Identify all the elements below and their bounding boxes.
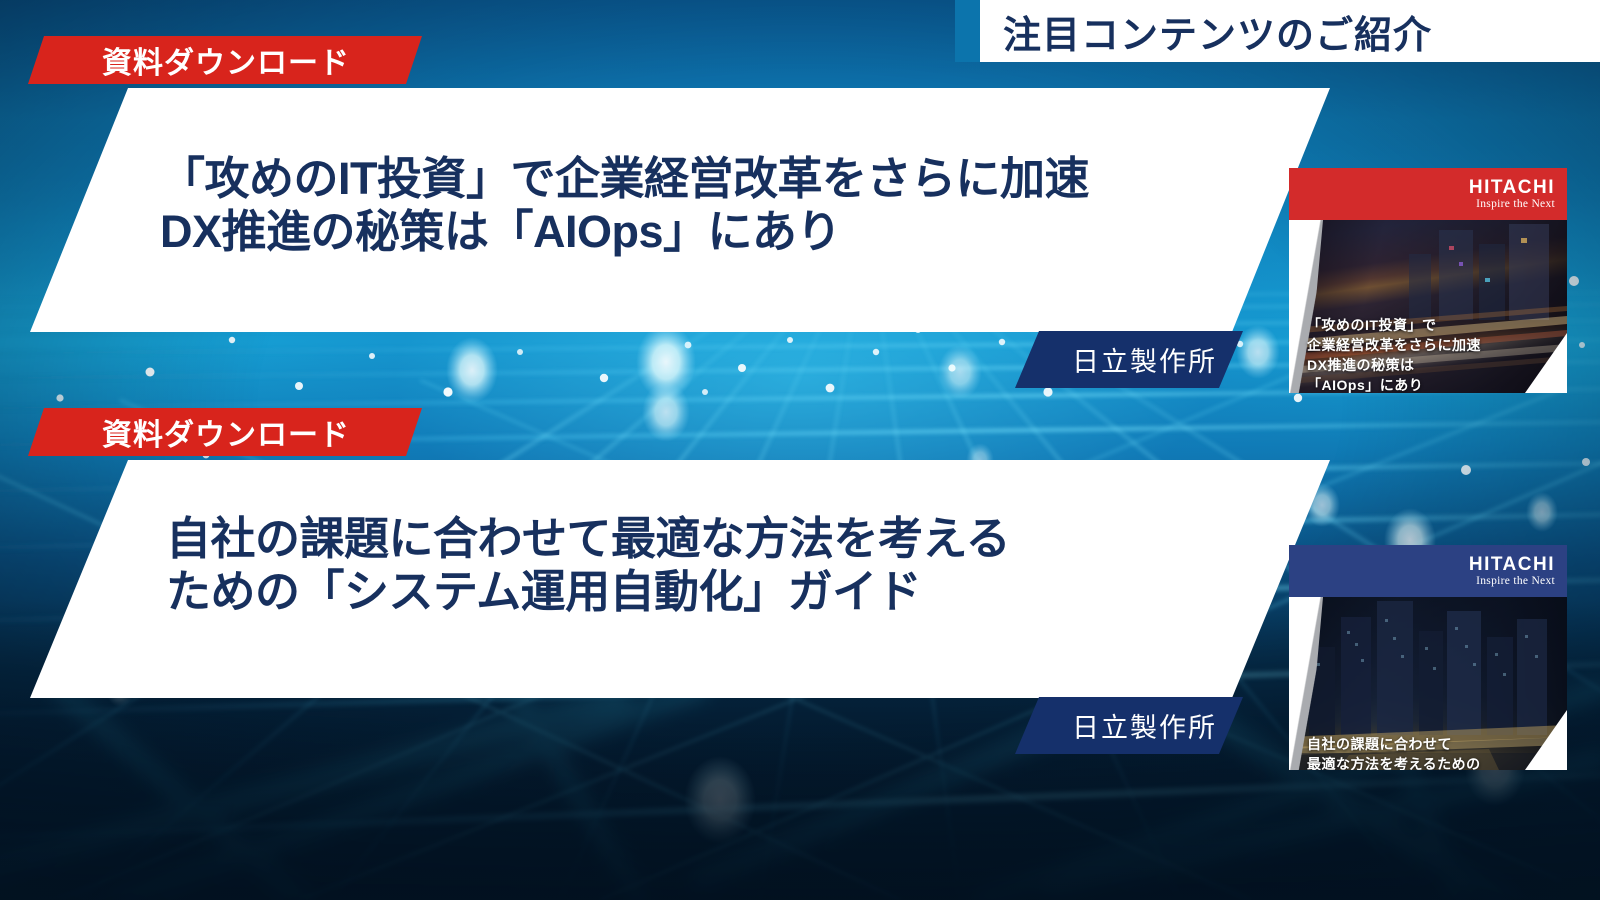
thumbnail-1-line-4: 「AIOps」にあり [1307,376,1481,393]
hitachi-tagline-1: Inspire the Next [1469,199,1555,211]
company-tag-2: 日立製作所 [1015,697,1243,754]
thumbnail-1-line-1: 「攻めのIT投資」で [1307,316,1481,336]
card-1-title-line2: DX推進の秘策は「AIOps」にあり [160,205,1089,258]
slide-canvas: 注目コンテンツのご紹介 「攻めのIT投資」で企業経営改革をさらに加速 DX推進の… [0,0,1600,900]
download-badge-2-label: 資料ダウンロード [102,410,350,454]
company-tag-1-label: 日立製作所 [1072,340,1217,379]
thumbnail-2-text: 自社の課題に合わせて 最適な方法を考えるための 「システム運用自動化」ガイド [1307,735,1510,770]
thumbnail-1-line-2: 企業経営改革をさらに加速 [1307,336,1481,356]
company-tag-1: 日立製作所 [1015,331,1243,388]
hitachi-logo-2: HITACHI Inspire the Next [1469,555,1567,588]
thumbnail-2-line-1: 自社の課題に合わせて [1307,735,1510,755]
hitachi-brand-2: HITACHI [1469,555,1555,574]
download-badge-1-label: 資料ダウンロード [102,38,350,82]
thumbnail-1-line-3: DX推進の秘策は [1307,356,1481,376]
card-1-title-line1: 「攻めのIT投資」で企業経営改革をさらに加速 [160,152,1089,205]
thumbnail-1-text: 「攻めのIT投資」で 企業経営改革をさらに加速 DX推進の秘策は 「AIOps」… [1307,316,1481,393]
hitachi-tagline-2: Inspire the Next [1469,576,1555,588]
download-badge-1[interactable]: 資料ダウンロード [28,36,422,84]
card-2-title: 自社の課題に合わせて最適な方法を考える ための「システム運用自動化」ガイド [166,512,1010,618]
hitachi-brand-1: HITACHI [1469,178,1555,197]
company-tag-2-label: 日立製作所 [1072,706,1217,745]
hitachi-logo-1: HITACHI Inspire the Next [1469,178,1567,211]
thumbnail-1-header: HITACHI Inspire the Next [1289,168,1567,220]
document-thumbnail-1[interactable]: HITACHI Inspire the Next 「攻めのIT投資」で 企業経営… [1289,168,1567,393]
thumbnail-2-line-2: 最適な方法を考えるための [1307,755,1510,770]
download-badge-2[interactable]: 資料ダウンロード [28,408,422,456]
header-accent-bar [955,0,981,62]
card-2-title-line1: 自社の課題に合わせて最適な方法を考える [166,512,1010,565]
card-2-title-line2: ための「システム運用自動化」ガイド [166,565,1010,618]
card-1-title: 「攻めのIT投資」で企業経営改革をさらに加速 DX推進の秘策は「AIOps」にあ… [160,152,1089,258]
document-thumbnail-2[interactable]: HITACHI Inspire the Next 自社の課題に合わせて 最適な方… [1289,545,1567,770]
thumbnail-2-header: HITACHI Inspire the Next [1289,545,1567,597]
page-title: 注目コンテンツのご紹介 [1003,4,1583,58]
